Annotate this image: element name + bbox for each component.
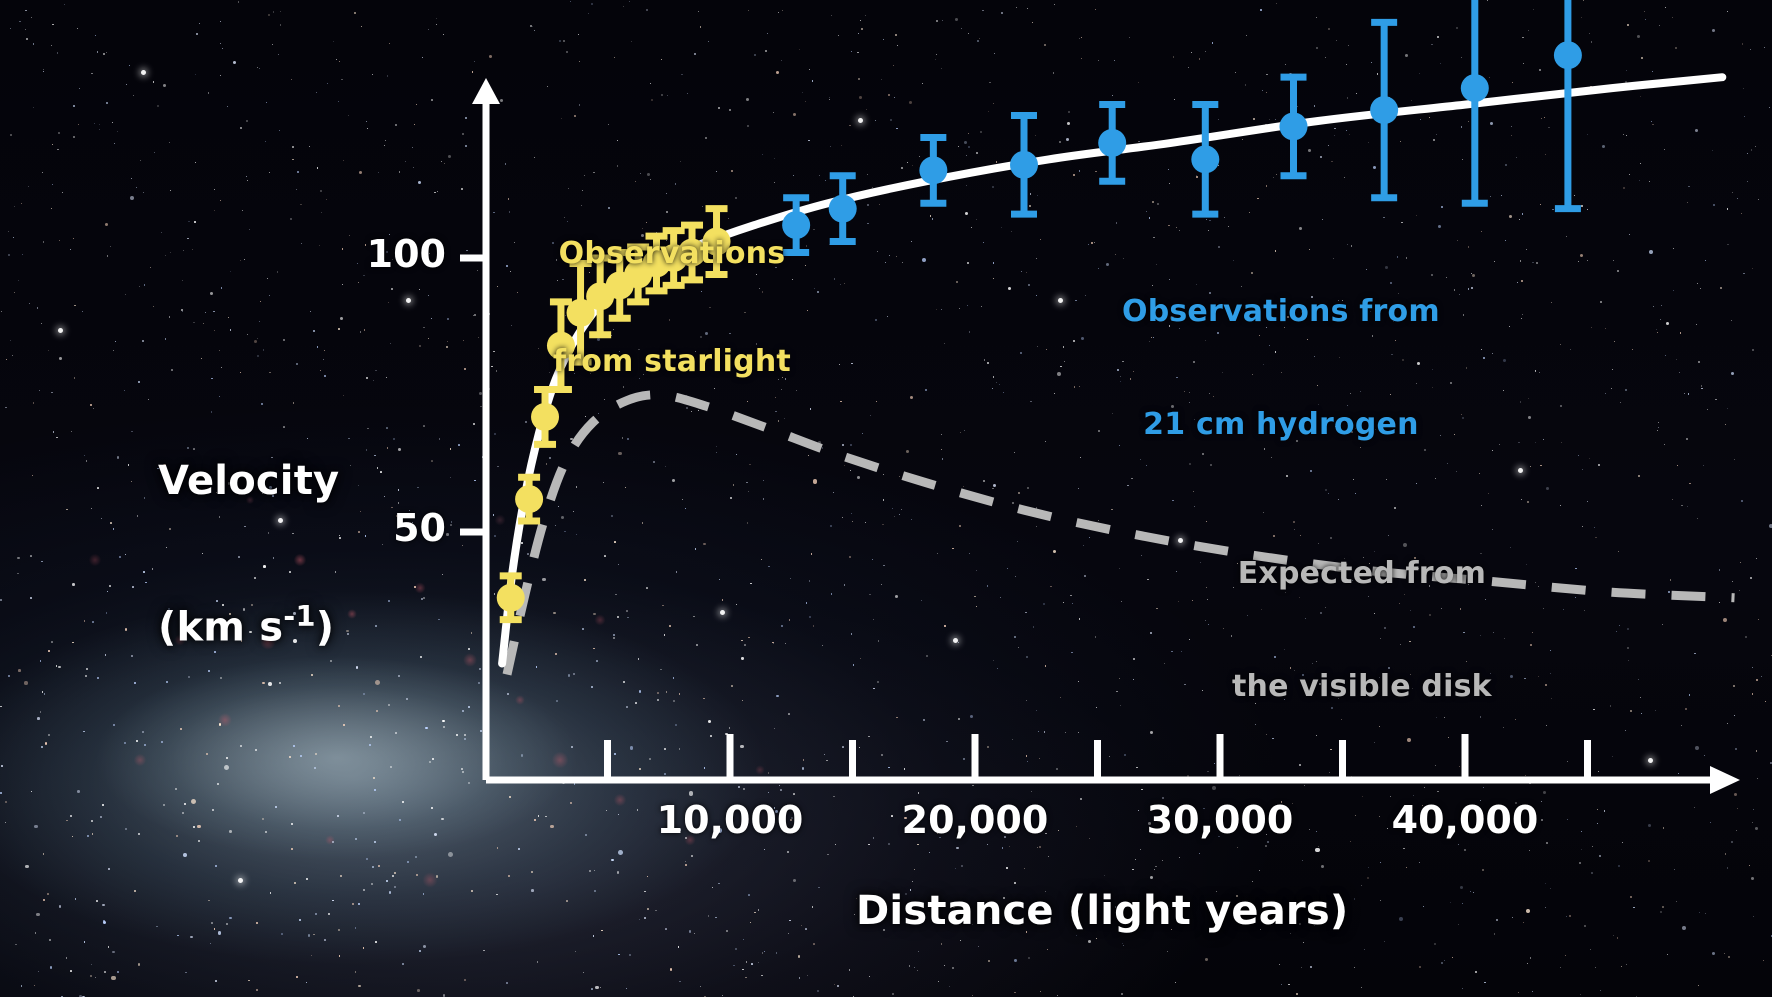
- hydrogen-point-9: [1554, 0, 1582, 209]
- data-marker: [1191, 145, 1219, 173]
- y-axis-unit-prefix: (km s: [158, 604, 283, 650]
- x-axis-title: Distance (light years): [856, 888, 1348, 934]
- hydrogen-point-7: [1370, 22, 1398, 197]
- data-marker: [1554, 41, 1582, 69]
- x-axis-arrowhead: [1710, 766, 1740, 794]
- hydrogen-point-5: [1191, 105, 1219, 215]
- y-tick-label-50: 50: [336, 506, 446, 550]
- x-tick-label-10000: 10,000: [620, 798, 840, 842]
- x-tick-label-20000: 20,000: [865, 798, 1085, 842]
- y-axis-arrowhead: [472, 78, 500, 104]
- y-axis-title: Velocity (km s-1): [158, 364, 339, 746]
- legend-hydrogen: Observations from 21 cm hydrogen: [1122, 218, 1440, 518]
- data-marker: [829, 195, 857, 223]
- hydrogen-point-2: [919, 137, 947, 203]
- x-tick-label-40000: 40,000: [1355, 798, 1575, 842]
- hydrogen-point-1: [829, 176, 857, 242]
- x-tick-label-30000: 30,000: [1110, 798, 1330, 842]
- data-marker: [1010, 151, 1038, 179]
- legend-expected-line1: Expected from: [1232, 555, 1492, 593]
- hydrogen-point-6: [1280, 77, 1308, 176]
- y-axis-title-line1: Velocity: [158, 458, 339, 505]
- data-marker: [919, 156, 947, 184]
- galaxy-rotation-curve-figure: Velocity (km s-1) Distance (light years)…: [0, 0, 1772, 997]
- data-marker: [1370, 96, 1398, 124]
- y-axis-title-line2: (km s-1): [158, 600, 339, 652]
- legend-starlight-line2: from starlight: [553, 344, 791, 380]
- legend-expected-line2: the visible disk: [1232, 668, 1492, 706]
- legend-starlight-line1: Observations: [553, 236, 791, 272]
- series-hydrogen: [782, 0, 1582, 253]
- hydrogen-point-4: [1098, 105, 1126, 182]
- legend-starlight: Observations from starlight: [553, 164, 791, 452]
- legend-hydrogen-line1: Observations from: [1122, 293, 1440, 331]
- y-axis-unit-exponent: -1: [283, 599, 315, 633]
- hydrogen-point-3: [1010, 116, 1038, 215]
- data-marker: [515, 485, 543, 513]
- y-axis-unit-suffix: ): [316, 604, 334, 650]
- data-marker: [1461, 74, 1489, 102]
- data-marker: [1280, 112, 1308, 140]
- legend-hydrogen-line2: 21 cm hydrogen: [1122, 406, 1440, 444]
- legend-expected-disk: Expected from the visible disk: [1232, 480, 1492, 780]
- data-marker: [497, 584, 525, 612]
- data-marker: [1098, 129, 1126, 157]
- y-tick-label-100: 100: [336, 232, 446, 276]
